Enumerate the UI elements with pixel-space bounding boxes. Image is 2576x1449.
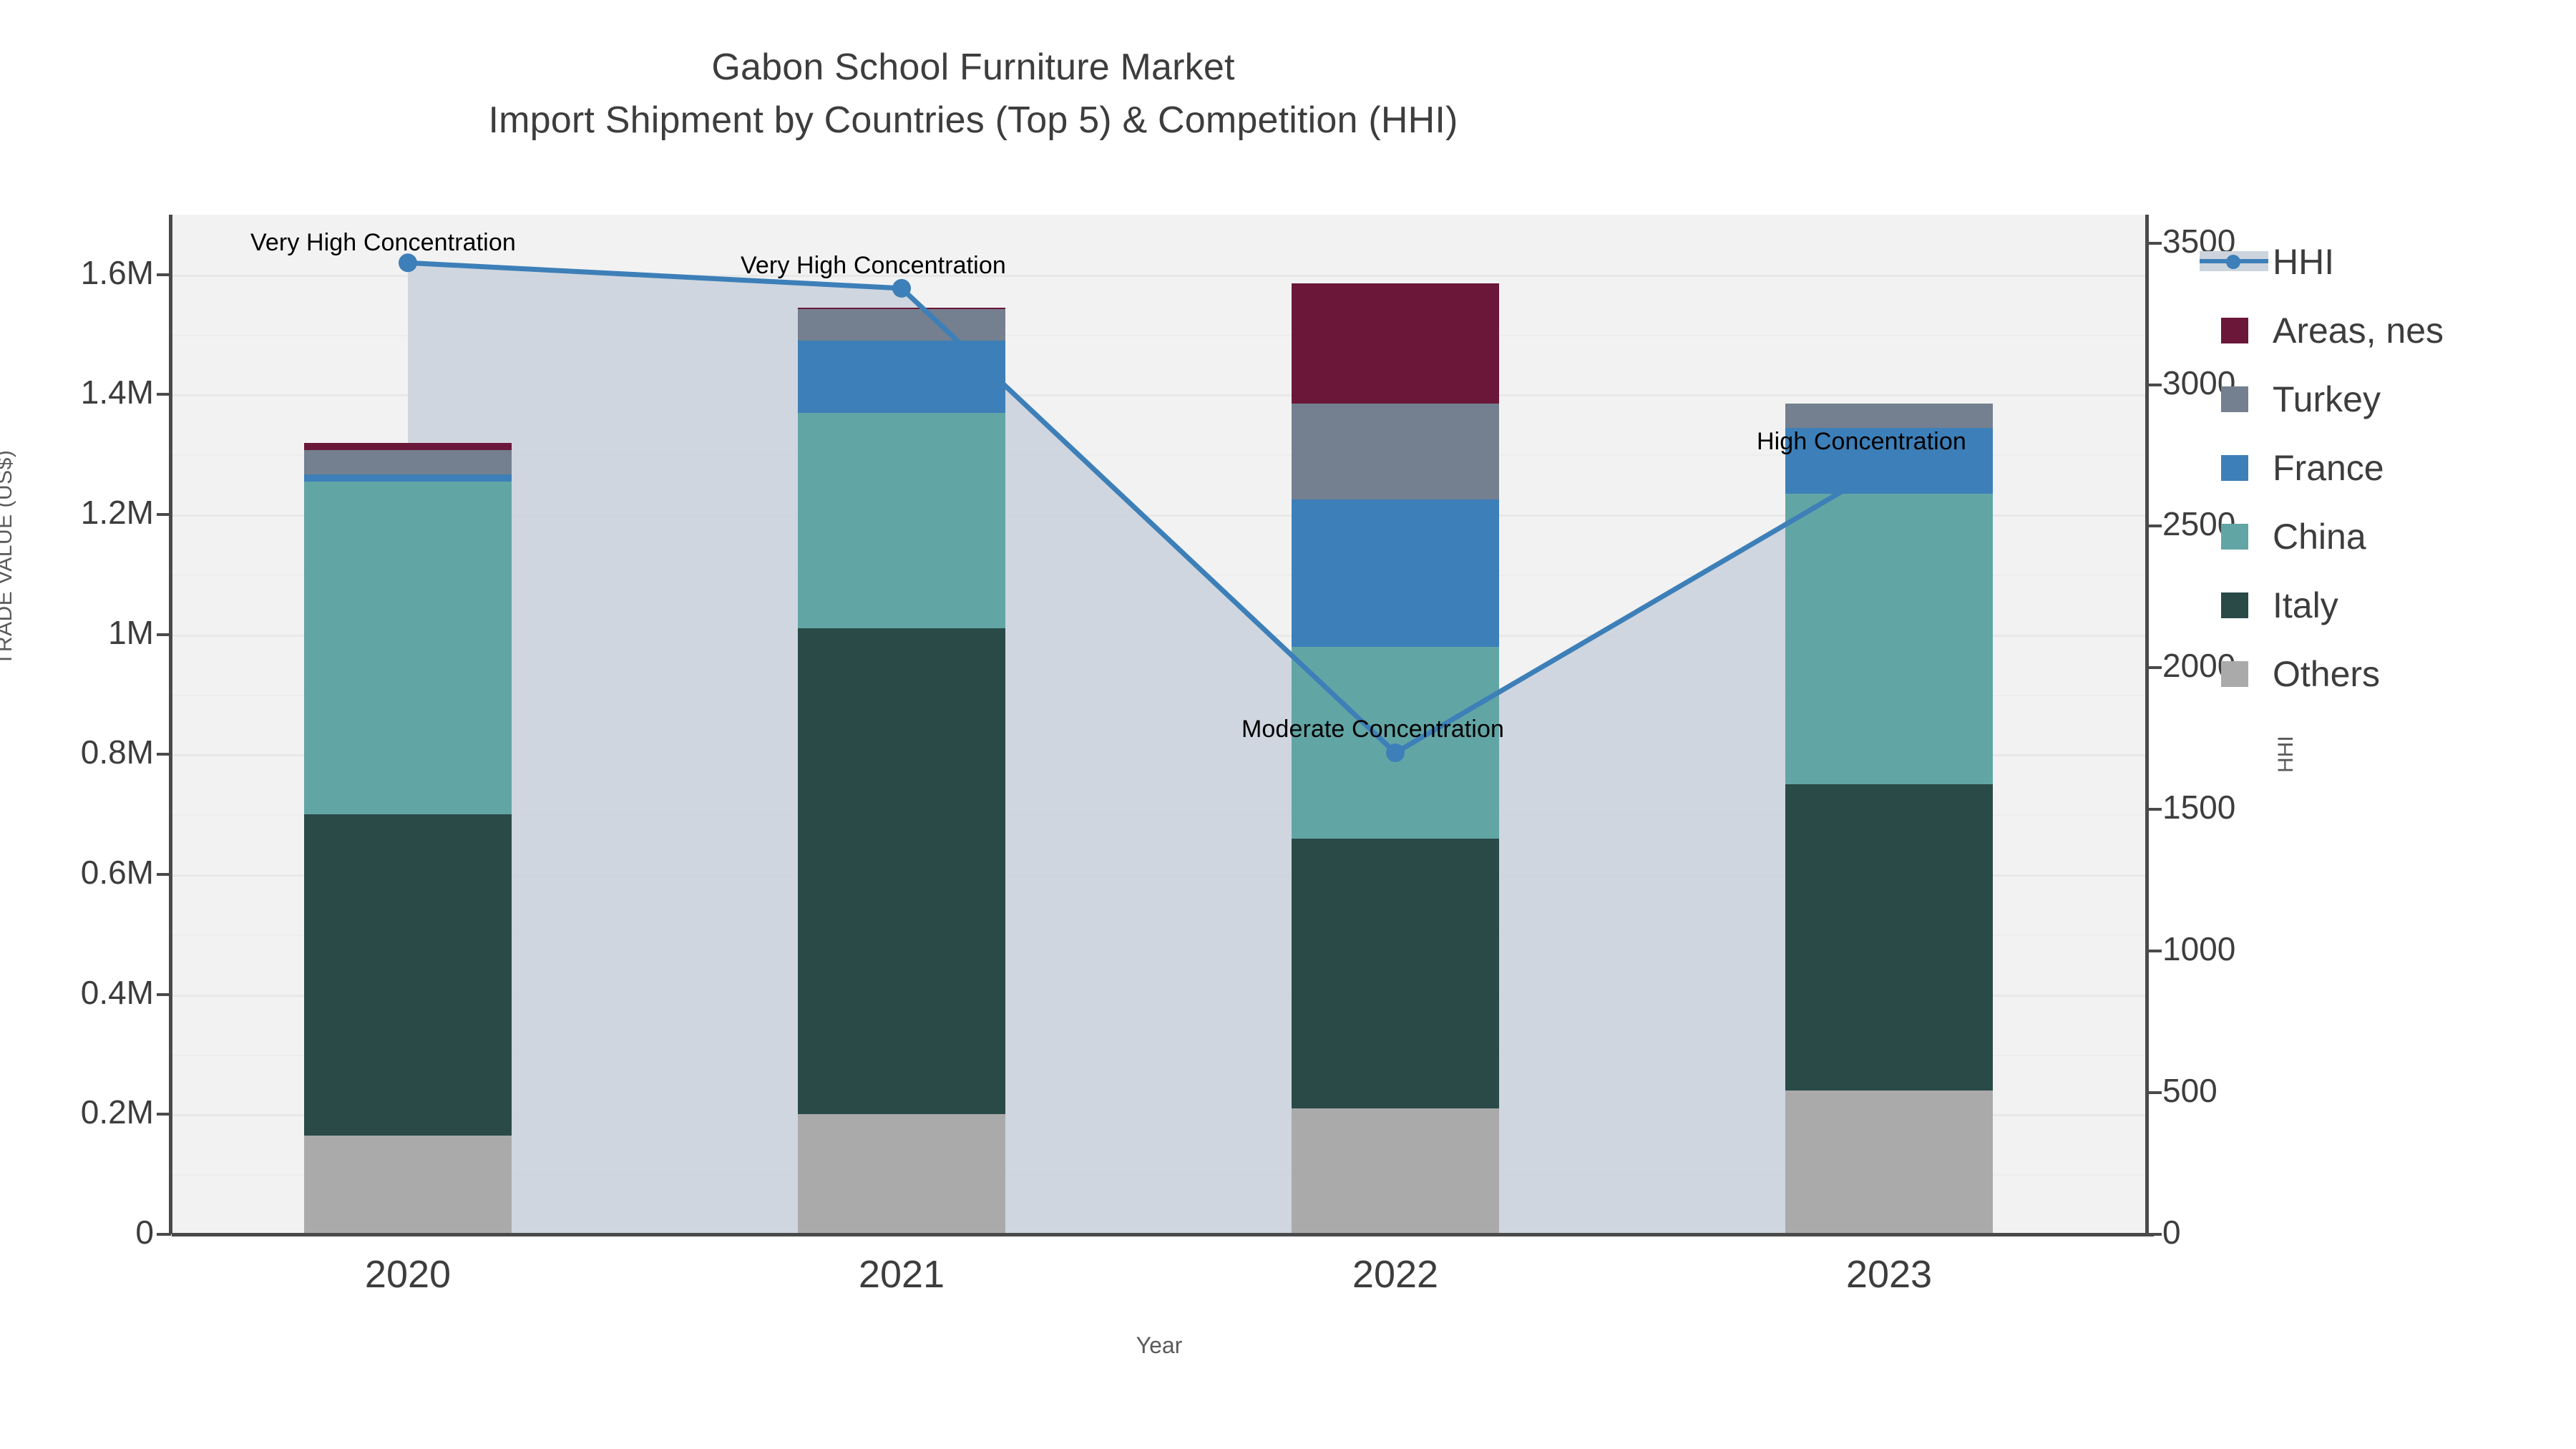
legend-marker-dot (2226, 255, 2240, 269)
legend-item-france[interactable]: France (2192, 434, 2565, 502)
legend-item-areas-nes[interactable]: Areas, nes (2192, 296, 2565, 365)
y-axis-left-tick-mark (157, 1113, 171, 1116)
x-axis-title: Year (172, 1332, 2147, 1359)
legend-item-label: France (2268, 447, 2384, 489)
legend-color-swatch (2221, 318, 2248, 343)
hhi-line-stroke-layer (172, 215, 2147, 1234)
y-axis-left-tick-label: 1.2M (81, 493, 154, 532)
y-axis-right-tick-mark (2147, 808, 2162, 811)
x-axis-tick-label-2023: 2023 (1760, 1252, 2018, 1297)
y-axis-right-tick-mark (2147, 525, 2162, 527)
y-axis-left-spine (169, 215, 172, 1234)
y-axis-right-tick-label: 1500 (2162, 788, 2235, 826)
plot-area (172, 215, 2147, 1234)
hhi-line-path (408, 263, 1889, 753)
y-axis-left-tick-mark (157, 273, 171, 276)
hhi-annotation-2020: Very High Concentration (250, 229, 516, 257)
color-swatch-icon (2192, 571, 2268, 640)
legend-item-label: Areas, nes (2268, 310, 2444, 351)
legend-item-turkey[interactable]: Turkey (2192, 365, 2565, 434)
hhi-data-point[interactable] (892, 279, 911, 298)
y-axis-left-tick-label: 0 (135, 1213, 154, 1252)
x-axis-tick-label-2022: 2022 (1267, 1252, 1524, 1297)
y-axis-left-title: TRADE VALUE (US$) (0, 450, 17, 665)
y-axis-left-tick-label: 0.6M (81, 853, 154, 892)
y-axis-right-tick-label: 1000 (2162, 930, 2235, 968)
y-axis-left-tick-label: 0.2M (81, 1093, 154, 1131)
y-axis-left-tick-label: 0.8M (81, 733, 154, 771)
x-axis-spine (172, 1233, 2154, 1236)
y-axis-left-tick-mark (157, 873, 171, 876)
chart-container: Gabon School Furniture Market Import Shi… (0, 0, 2576, 1449)
legend-item-label: China (2268, 516, 2366, 557)
hhi-data-point[interactable] (1386, 743, 1405, 762)
hhi-markers (399, 253, 1898, 762)
y-axis-left-tick-label: 1.4M (81, 373, 154, 411)
y-axis-right-tick-label: 0 (2162, 1213, 2181, 1252)
chart-title-line-2: Import Shipment by Countries (Top 5) & C… (0, 97, 1946, 145)
legend-item-italy[interactable]: Italy (2192, 571, 2565, 640)
legend-item-label: Italy (2268, 585, 2338, 626)
x-axis-tick-label-2021: 2021 (773, 1252, 1030, 1297)
line-marker-icon (2192, 228, 2268, 296)
y-axis-right-tick-mark (2147, 1091, 2162, 1094)
y-axis-left-tick-label: 1.6M (81, 253, 154, 292)
x-axis-tick-label-2020: 2020 (279, 1252, 537, 1297)
y-axis-right-tick-mark (2147, 242, 2162, 245)
legend-color-swatch (2221, 661, 2248, 687)
legend-item-label: Turkey (2268, 379, 2381, 420)
y-axis-left-tick-mark (157, 513, 171, 516)
y-axis-right-tick-label: 500 (2162, 1071, 2218, 1110)
y-axis-left-tick-mark (157, 993, 171, 996)
color-swatch-icon (2192, 640, 2268, 708)
legend-item-hhi[interactable]: HHI (2192, 228, 2565, 296)
legend-color-swatch (2221, 386, 2248, 412)
hhi-data-point[interactable] (1880, 454, 1898, 473)
y-axis-right-tick-mark (2147, 384, 2162, 386)
legend-item-label: Others (2268, 653, 2380, 695)
legend-item-label: HHI (2268, 241, 2334, 283)
y-axis-left-tick-mark (157, 633, 171, 636)
hhi-annotation-2021: Very High Concentration (741, 252, 1006, 280)
legend-item-others[interactable]: Others (2192, 640, 2565, 708)
y-axis-right-title: HHI (2274, 736, 2298, 773)
y-axis-left-tick-mark (157, 393, 171, 396)
color-swatch-icon (2192, 296, 2268, 365)
y-axis-right-tick-mark (2147, 950, 2162, 952)
y-axis-right-tick-mark (2147, 666, 2162, 669)
chart-legend: HHIAreas, nesTurkeyFranceChinaItalyOther… (2192, 228, 2565, 708)
y-axis-left-tick-mark (157, 1233, 171, 1236)
color-swatch-icon (2192, 434, 2268, 502)
chart-title: Gabon School Furniture Market Import Shi… (0, 44, 1946, 144)
legend-color-swatch (2221, 455, 2248, 481)
hhi-annotation-2023: High Concentration (1757, 428, 1966, 456)
y-axis-right-spine (2145, 215, 2149, 1234)
hhi-annotation-2022: Moderate Concentration (1241, 716, 1504, 743)
y-axis-left-tick-mark (157, 753, 171, 756)
y-axis-right-tick-mark (2147, 1233, 2162, 1236)
legend-item-china[interactable]: China (2192, 502, 2565, 571)
legend-color-swatch (2221, 592, 2248, 618)
y-axis-left-tick-label: 0.4M (81, 973, 154, 1012)
chart-title-line-1: Gabon School Furniture Market (0, 44, 1946, 92)
color-swatch-icon (2192, 365, 2268, 434)
y-axis-left-tick-label: 1M (108, 613, 154, 652)
legend-color-swatch (2221, 524, 2248, 550)
color-swatch-icon (2192, 502, 2268, 571)
